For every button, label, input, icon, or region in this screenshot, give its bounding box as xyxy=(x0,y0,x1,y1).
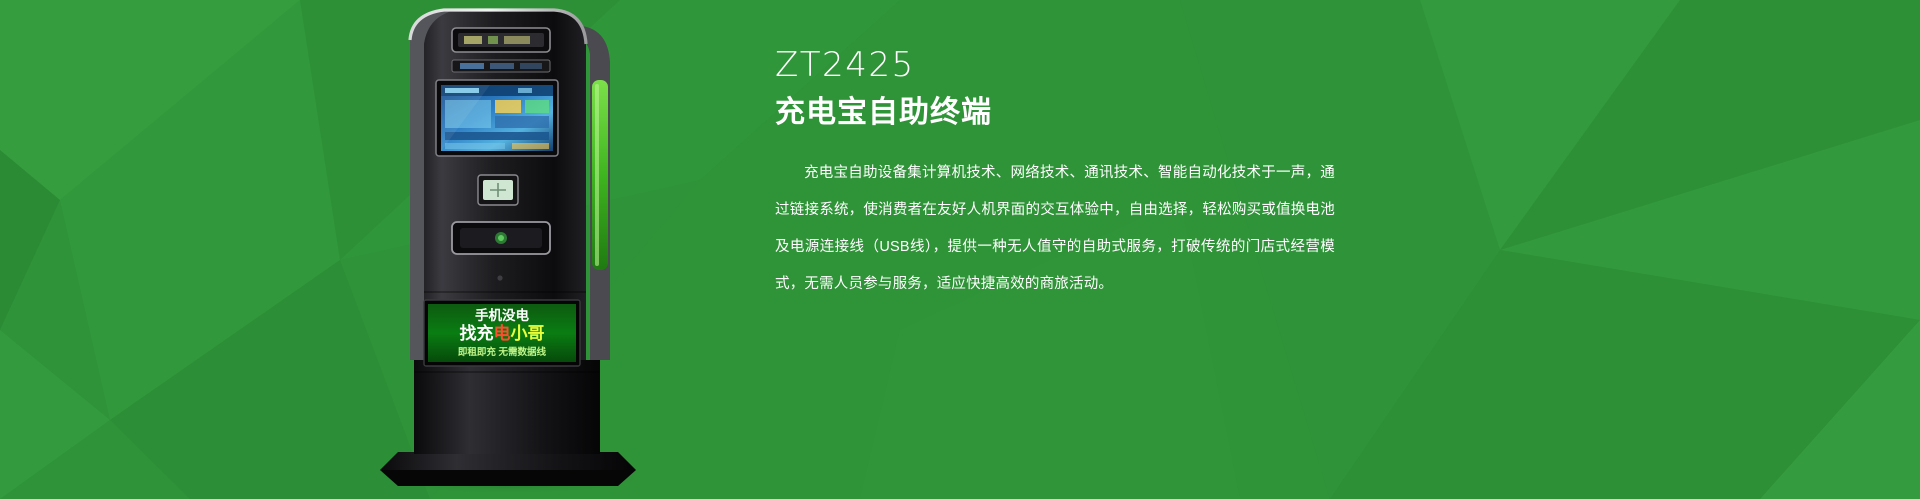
product-banner: 手机没电 找充电小哥 即租即充 无需数据线 ZT2425 充电宝自助终端 充电宝… xyxy=(0,0,1920,499)
kiosk-product-image: 手机没电 找充电小哥 即租即充 无需数据线 xyxy=(340,0,670,499)
product-description: 充电宝自助设备集计算机技术、网络技术、通讯技术、智能自动化技术于一声，通过链接系… xyxy=(775,155,1335,303)
product-code: ZT2425 xyxy=(775,46,1335,85)
led-line-1: 手机没电 xyxy=(475,307,529,323)
led-line-2: 找充电小哥 xyxy=(460,323,545,343)
product-copy: ZT2425 充电宝自助终端 充电宝自助设备集计算机技术、网络技术、通讯技术、智… xyxy=(775,46,1335,303)
led-line-3: 即租即充 无需数据线 xyxy=(458,346,547,358)
product-title: 充电宝自助终端 xyxy=(775,95,1335,131)
